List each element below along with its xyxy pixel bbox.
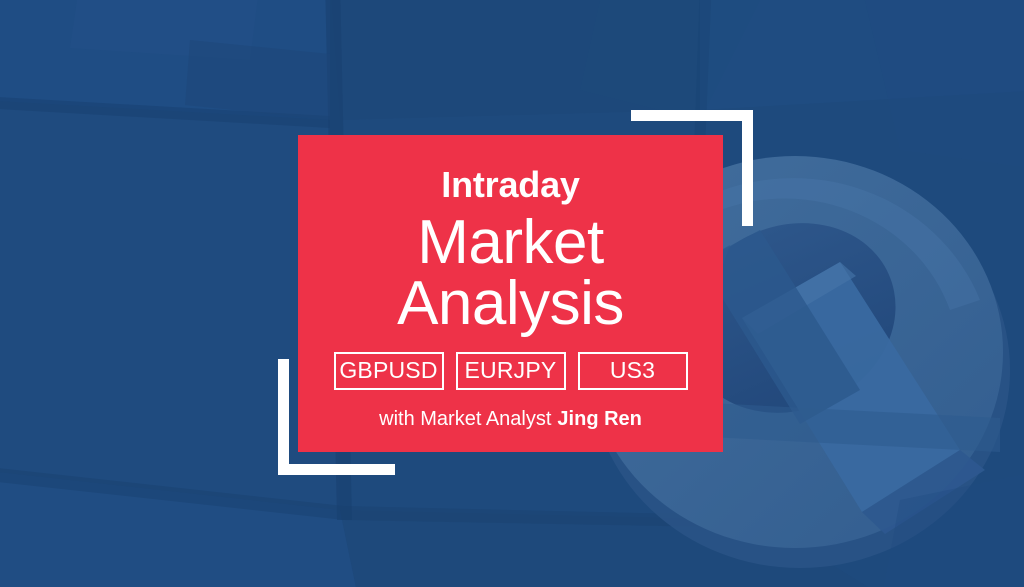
- byline-analyst-name: Jing Ren: [557, 408, 641, 430]
- bracket-horizontal-bar: [631, 110, 753, 121]
- instrument-tag-gbpusd[interactable]: GBPUSD: [334, 352, 444, 390]
- kicker-text: Intraday: [441, 167, 579, 203]
- bracket-horizontal-bar: [278, 464, 395, 475]
- byline-prefix: with Market Analyst: [379, 408, 551, 430]
- instrument-tag-eurjpy[interactable]: EURJPY: [456, 352, 566, 390]
- instrument-tag-us3[interactable]: US3: [578, 352, 688, 390]
- headline: Market Analysis: [397, 213, 624, 335]
- bracket-vertical-bar: [742, 110, 753, 226]
- headline-line-2: Analysis: [397, 274, 624, 335]
- headline-line-1: Market: [417, 208, 603, 277]
- content-card: Intraday Market Analysis GBPUSD EURJPY U…: [298, 135, 723, 452]
- byline: with Market AnalystJing Ren: [379, 409, 642, 429]
- promo-banner: Intraday Market Analysis GBPUSD EURJPY U…: [0, 0, 1024, 587]
- instrument-tag-list: GBPUSD EURJPY US3: [334, 352, 688, 390]
- bracket-vertical-bar: [278, 359, 289, 475]
